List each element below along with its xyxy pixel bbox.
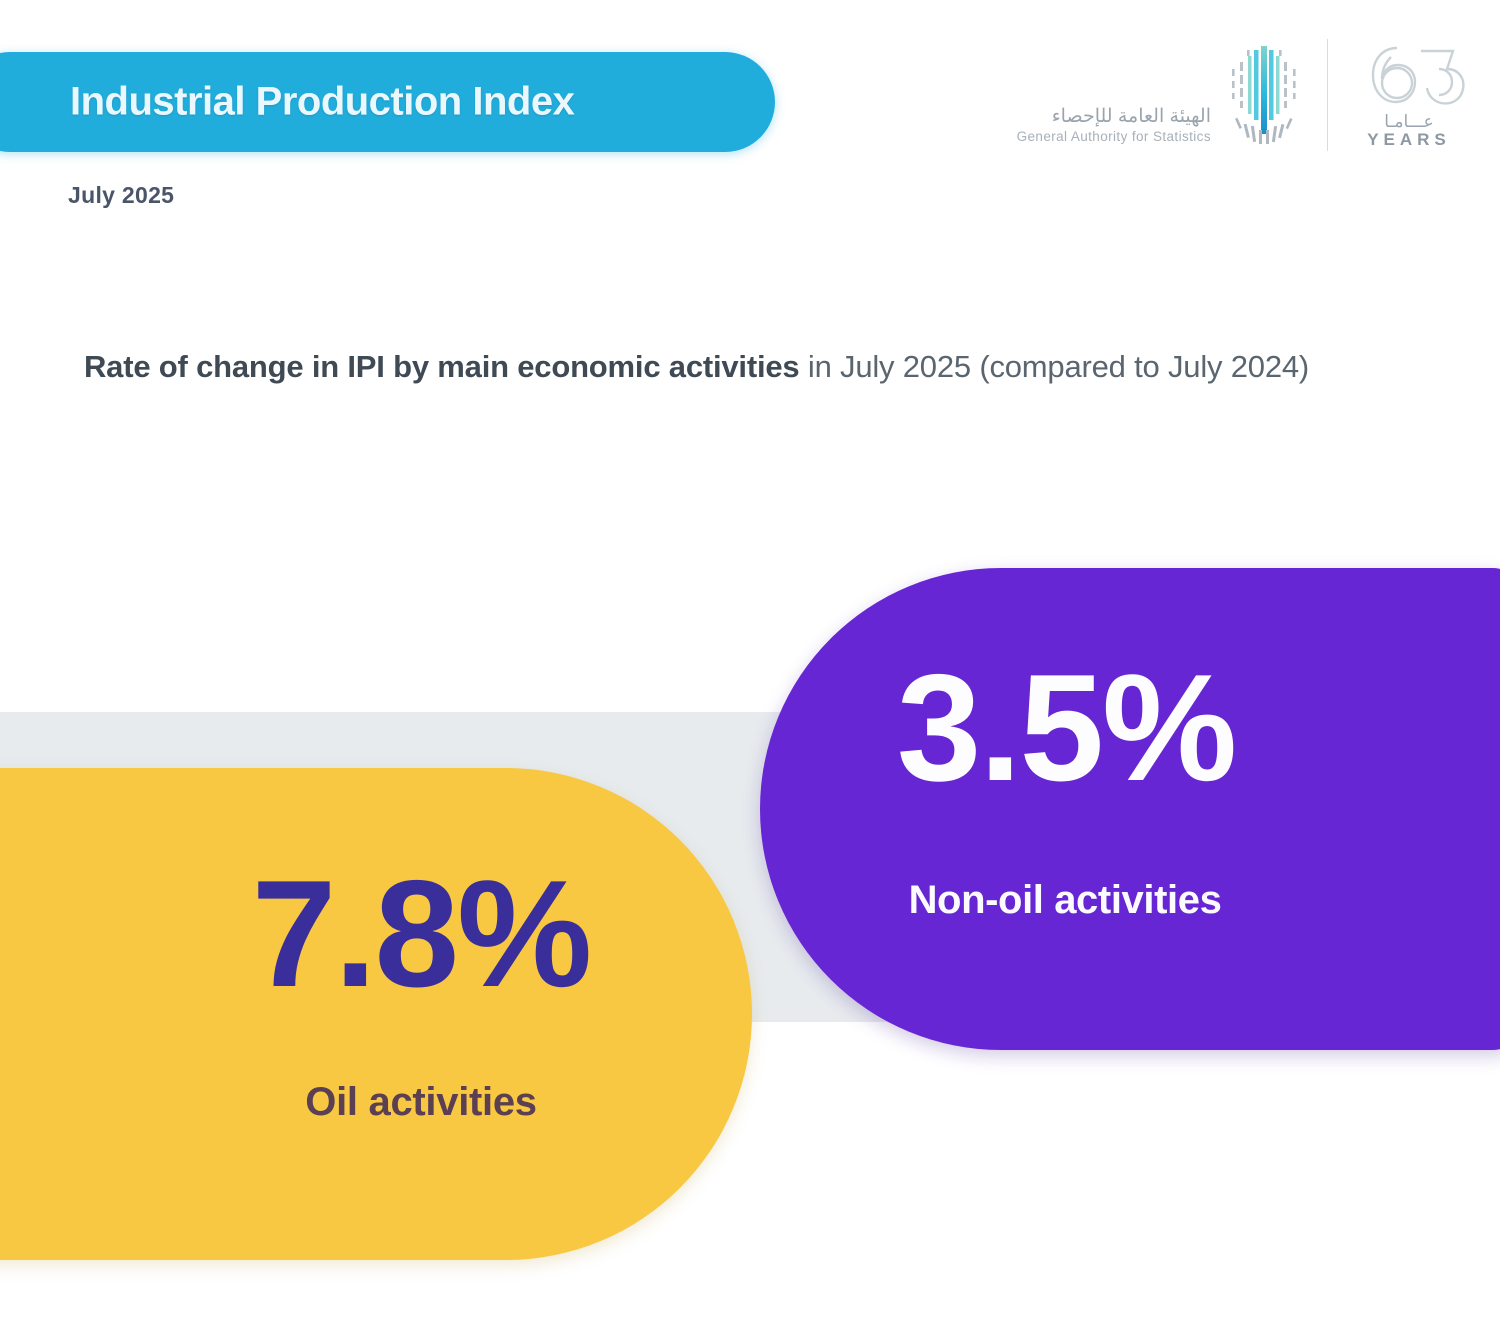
chart-subtitle: Rate of change in IPI by main economic a…: [84, 345, 1429, 389]
gastat-palm-mark-icon: [1223, 40, 1305, 150]
gastat-logo-block: الهيئة العامة للإحصاء General Authority …: [1017, 30, 1468, 160]
chart-subtitle-emphasis: Rate of change in IPI by main economic a…: [84, 349, 799, 384]
anniversary-emblem: عـــامـا YEARS: [1350, 35, 1468, 155]
chart-subtitle-rest: in July 2025 (compared to July 2024): [799, 349, 1309, 384]
anniversary-english-label: YEARS: [1367, 130, 1451, 150]
non-oil-activities-label: Non-oil activities: [760, 878, 1370, 923]
page-title: Industrial Production Index: [70, 80, 574, 125]
non-oil-activities-card: 3.5% Non-oil activities: [760, 568, 1500, 1050]
oil-activities-label: Oil activities: [90, 1080, 752, 1125]
anniversary-65-icon: [1353, 39, 1465, 111]
logo-divider: [1327, 39, 1328, 151]
page-title-pill: Industrial Production Index: [0, 52, 775, 152]
reference-period-label: July 2025: [68, 182, 174, 209]
non-oil-activities-value: 3.5%: [760, 652, 1372, 804]
anniversary-arabic-label: عـــامـا: [1384, 113, 1434, 130]
oil-activities-card: 7.8% Oil activities: [0, 768, 752, 1260]
logo-english-name: General Authority for Statistics: [1017, 128, 1211, 146]
logo-wordmark: الهيئة العامة للإحصاء General Authority …: [1017, 30, 1211, 160]
logo-arabic-name: الهيئة العامة للإحصاء: [1052, 105, 1211, 129]
oil-activities-value: 7.8%: [90, 858, 752, 1010]
